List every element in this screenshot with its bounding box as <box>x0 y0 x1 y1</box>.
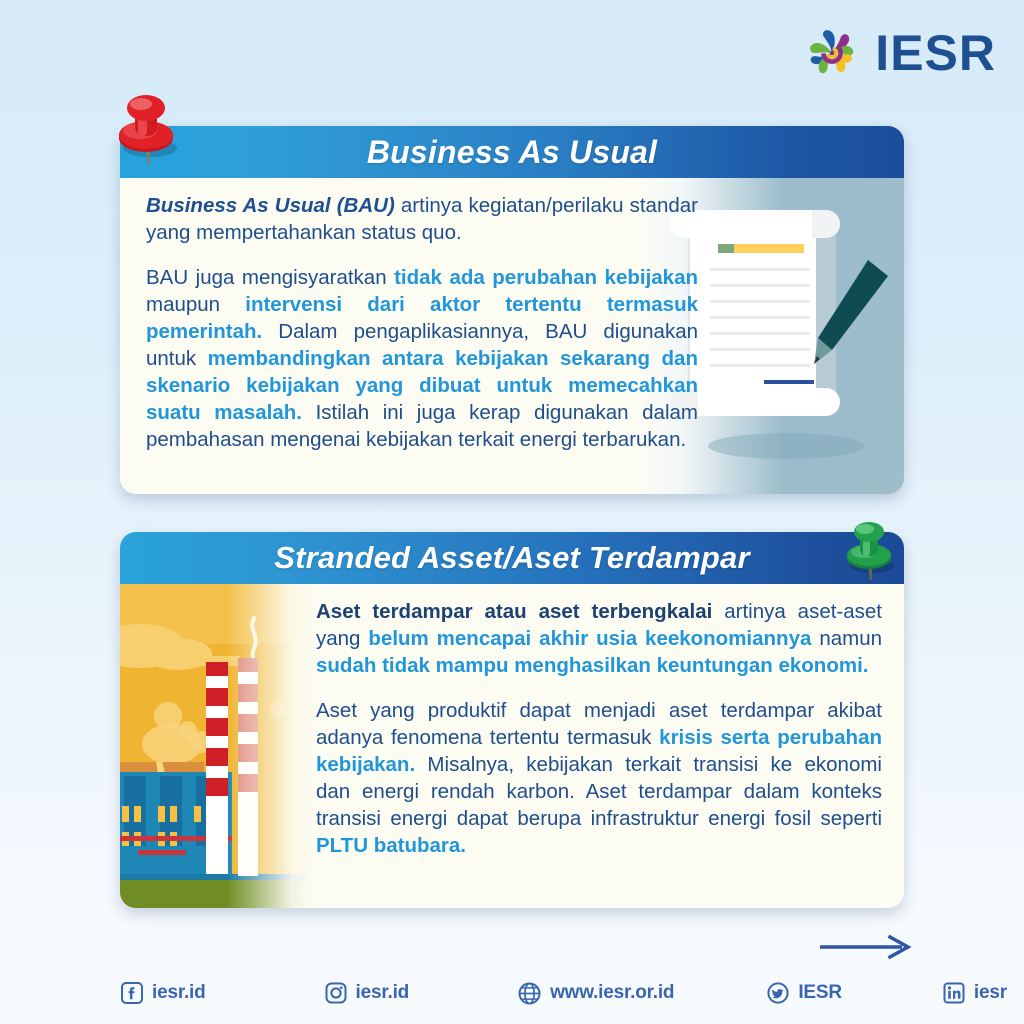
paragraph-2: BAU juga mengisyaratkan tidak ada peruba… <box>146 264 698 453</box>
iesr-swirl-logo-icon <box>799 20 865 86</box>
card-stranded-asset: Stranded Asset/Aset Terdampar <box>120 532 904 908</box>
social-instagram[interactable]: iesr.id <box>324 981 410 1005</box>
social-website[interactable]: www.iesr.or.id <box>517 981 674 1006</box>
twitter-icon <box>766 981 790 1005</box>
lead-term: Aset terdampar atau aset terbengkalai <box>316 600 712 623</box>
social-linkedin[interactable]: iesr <box>942 981 1007 1005</box>
social-handle: iesr <box>974 982 1007 1004</box>
highlight-text: tidak ada perubahan kebijakan <box>394 266 698 289</box>
lead-term: Business As Usual (BAU) <box>146 194 395 217</box>
card-body-stranded-asset: Aset terdampar atau aset terbengkalai ar… <box>120 584 904 908</box>
coal-power-plant-icon <box>120 584 315 908</box>
card-title: Business As Usual <box>367 134 657 171</box>
social-handle: iesr.id <box>356 982 410 1004</box>
iesr-logo: IESR <box>799 20 996 86</box>
arrow-right-icon[interactable] <box>818 934 914 960</box>
run-text: namun <box>811 627 882 650</box>
footer-social-bar: iesr.id iesr.id www.iesr.or.id IESR <box>0 972 1024 1014</box>
globe-icon <box>517 981 542 1006</box>
paragraph-1: Business As Usual (BAU) artinya kegiatan… <box>146 192 698 246</box>
paragraph-2: Aset yang produktif dapat menjadi aset t… <box>316 697 882 859</box>
linkedin-icon <box>942 981 966 1005</box>
social-handle: iesr.id <box>152 982 206 1004</box>
social-twitter[interactable]: IESR <box>766 981 842 1005</box>
facebook-icon <box>120 981 144 1005</box>
red-pushpin-icon <box>110 82 186 182</box>
card-body-business-as-usual: Business As Usual (BAU) artinya kegiatan… <box>120 178 904 494</box>
card-business-as-usual: Business As Usual <box>120 126 904 494</box>
card-title: Stranded Asset/Aset Terdampar <box>274 540 750 576</box>
card-header-stranded-asset: Stranded Asset/Aset Terdampar <box>120 532 904 584</box>
card-body-text-business-as-usual: Business As Usual (BAU) artinya kegiatan… <box>146 192 698 453</box>
instagram-icon <box>324 981 348 1005</box>
green-pushpin-icon <box>840 512 902 594</box>
run-text: BAU juga mengisyaratkan <box>146 266 394 289</box>
run-text: maupun <box>146 293 245 316</box>
highlight-text: PLTU batubara. <box>316 834 466 857</box>
social-facebook[interactable]: iesr.id <box>120 981 206 1005</box>
social-handle: IESR <box>798 982 842 1004</box>
logo-wordmark: IESR <box>875 24 996 82</box>
highlight-text: belum mencapai akhir usia keekonomiannya <box>368 627 811 650</box>
paragraph-1: Aset terdampar atau aset terbengkalai ar… <box>316 598 882 679</box>
card-body-text-stranded-asset: Aset terdampar atau aset terbengkalai ar… <box>316 598 882 859</box>
coal-power-plant-illustration <box>120 584 315 908</box>
highlight-text: sudah tidak mampu menghasilkan keuntunga… <box>316 654 868 677</box>
social-handle: www.iesr.or.id <box>550 982 674 1004</box>
card-header-business-as-usual: Business As Usual <box>120 126 904 178</box>
